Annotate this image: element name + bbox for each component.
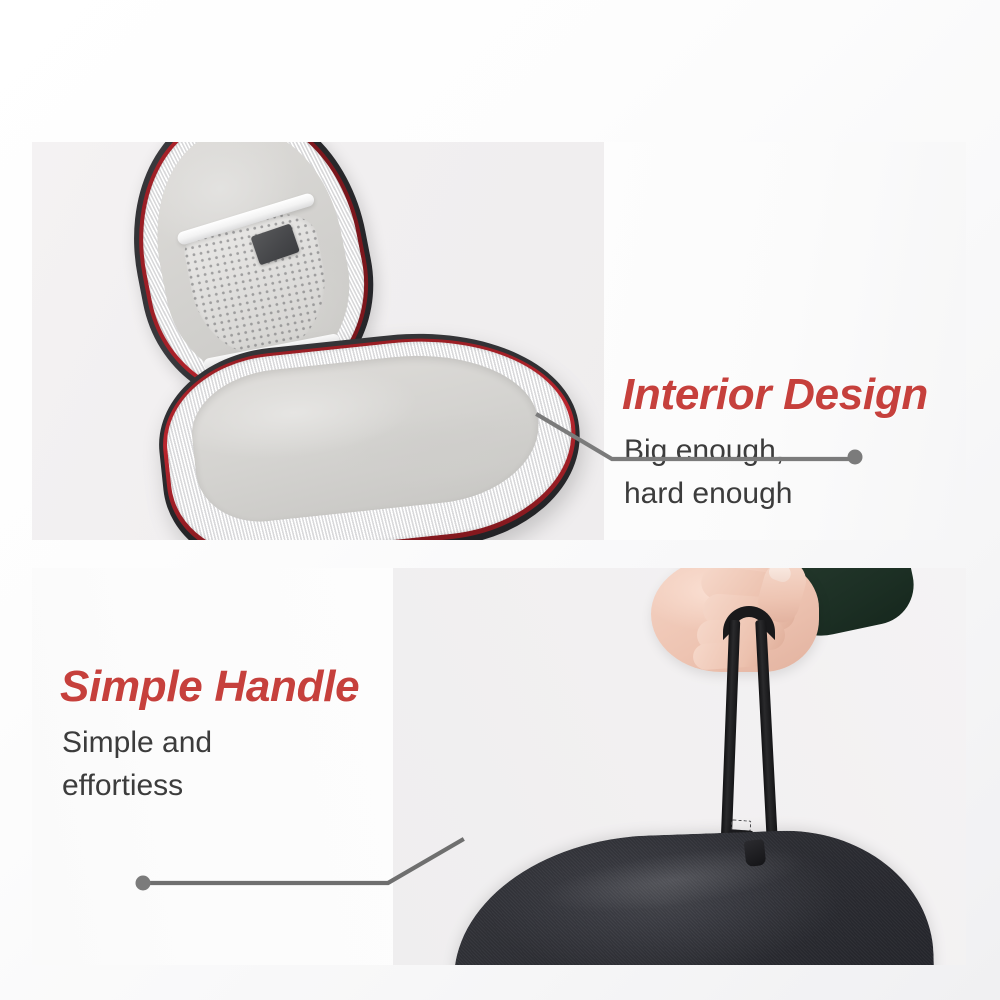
leader-endpoint-dot-handle xyxy=(136,876,151,891)
leader-polyline-handle xyxy=(150,840,462,883)
leader-line-handle-svg xyxy=(0,0,1000,1000)
product-feature-sheet: Interior Design Big enough, hard enough xyxy=(0,0,1000,1000)
leader-line-handle xyxy=(0,0,1000,1000)
